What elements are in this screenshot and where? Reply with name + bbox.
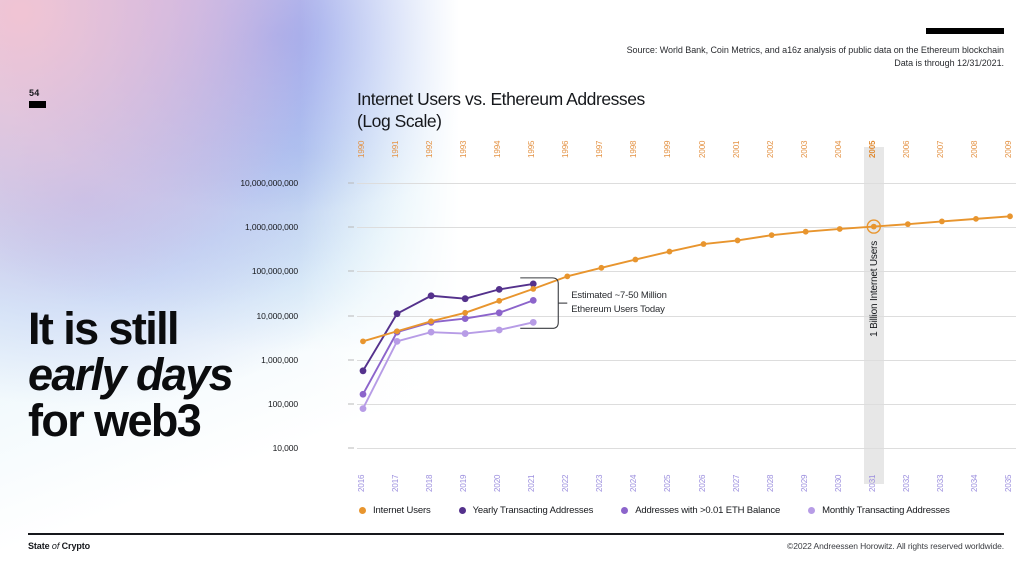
headline-line-2: early days (28, 352, 232, 398)
legend-color-dot-icon (621, 507, 628, 514)
legend-label: Addresses with >0.01 ETH Balance (635, 505, 780, 516)
x-axis-top-label-2002: 2002 (766, 141, 775, 158)
footer-brand-of: of (52, 541, 59, 551)
footer-brand-state: State (28, 541, 50, 551)
legend-label: Yearly Transacting Addresses (473, 505, 594, 516)
legend-color-dot-icon (808, 507, 815, 514)
x-axis-top-label-1994: 1994 (493, 141, 502, 158)
annotation-bracket-path (520, 278, 558, 328)
footer-brand-crypto: Crypto (62, 541, 90, 551)
headline-line-3: for web3 (28, 398, 232, 444)
annotation-text: Estimated ~7-50 Million Ethereum Users T… (571, 289, 667, 316)
y-axis-tick-label: 10,000,000,000 (240, 178, 298, 188)
y-axis-tick-label: 1,000,000 (261, 355, 298, 365)
x-axis-top-label-1999: 1999 (663, 141, 672, 158)
x-axis-top-label-2000: 2000 (698, 141, 707, 158)
x-axis-bottom-label-2021: 2021 (527, 475, 536, 492)
footer-rule (28, 533, 1004, 535)
x-axis-top-label-1997: 1997 (595, 141, 604, 158)
legend-label: Monthly Transacting Addresses (822, 505, 950, 516)
chart-title-main: Internet Users vs. Ethereum Addresses (357, 88, 645, 110)
y-axis-tick-mark (348, 271, 354, 272)
x-axis-bottom-label-2017: 2017 (391, 475, 400, 492)
legend-color-dot-icon (459, 507, 466, 514)
annotation-line-2: Ethereum Users Today (571, 303, 667, 316)
annotation-line-1: Estimated ~7-50 Million (571, 289, 667, 302)
x-axis-bottom-label-2033: 2033 (936, 475, 945, 492)
gridline (357, 448, 1016, 449)
x-axis-bottom-label-2025: 2025 (663, 475, 672, 492)
headline-line-1: It is still (28, 306, 232, 352)
x-axis-bottom-label-2035: 2035 (1004, 475, 1013, 492)
headline: It is still early days for web3 (28, 306, 232, 444)
x-axis-top-label-2003: 2003 (800, 141, 809, 158)
y-axis-tick-label: 10,000 (273, 443, 298, 453)
top-rule-decoration (926, 28, 1004, 34)
page-number: 54 (29, 88, 46, 98)
x-axis-bottom-label-2022: 2022 (561, 475, 570, 492)
x-axis-bottom-label-2030: 2030 (834, 475, 843, 492)
x-axis-bottom-label-2029: 2029 (800, 475, 809, 492)
x-axis-top-label-1991: 1991 (391, 141, 400, 158)
y-axis-tick-label: 1,000,000,000 (245, 222, 298, 232)
legend-label: Internet Users (373, 505, 431, 516)
plot-region: 10,000,000,0001,000,000,000100,000,00010… (357, 183, 1016, 448)
x-axis-top-label-2004: 2004 (834, 141, 843, 158)
x-axis-bottom-label-2027: 2027 (732, 475, 741, 492)
y-axis-tick-mark (348, 403, 354, 404)
x-axis-bottom-label-2034: 2034 (970, 475, 979, 492)
legend-item-4[interactable]: Monthly Transacting Addresses (808, 505, 950, 516)
footer-brand: State of Crypto (28, 541, 90, 551)
y-axis-tick-label: 10,000,000 (256, 311, 298, 321)
x-axis-bottom-label-2020: 2020 (493, 475, 502, 492)
x-axis-bottom-label-2031: 2031 (868, 475, 877, 492)
y-axis-tick-label: 100,000 (268, 399, 298, 409)
footer-copyright: ©2022 Andreessen Horowitz. All rights re… (787, 541, 1004, 551)
chart-title: Internet Users vs. Ethereum Addresses (L… (357, 88, 645, 132)
chart-subtitle: (Log Scale) (357, 110, 645, 132)
x-axis-top-label-2008: 2008 (970, 141, 979, 158)
y-axis-tick-mark (348, 315, 354, 316)
y-axis-tick-mark (348, 227, 354, 228)
x-axis-bottom-label-2016: 2016 (357, 475, 366, 492)
x-axis-bottom-label-2019: 2019 (459, 475, 468, 492)
x-axis-top-label-1998: 1998 (629, 141, 638, 158)
annotation-bracket (357, 183, 1016, 448)
legend-item-3[interactable]: Addresses with >0.01 ETH Balance (621, 505, 780, 516)
x-axis-bottom-label-2028: 2028 (766, 475, 775, 492)
x-axis-top-label-1993: 1993 (459, 141, 468, 158)
x-axis-top-label-2009: 2009 (1004, 141, 1013, 158)
page-marker: 54 (29, 88, 46, 108)
source-note: Source: World Bank, Coin Metrics, and a1… (384, 44, 1004, 70)
legend-item-1[interactable]: Internet Users (359, 505, 431, 516)
chart-legend: Internet UsersYearly Transacting Address… (359, 505, 978, 516)
page-bar-decoration (29, 101, 46, 108)
y-axis-tick-mark (348, 183, 354, 184)
x-axis-top-label-2006: 2006 (902, 141, 911, 158)
x-axis-bottom-label-2023: 2023 (595, 475, 604, 492)
legend-item-2[interactable]: Yearly Transacting Addresses (459, 505, 594, 516)
x-axis-bottom-label-2024: 2024 (629, 475, 638, 492)
x-axis-top-label-1990: 1990 (357, 141, 366, 158)
source-line-2: Data is through 12/31/2021. (384, 57, 1004, 70)
y-axis-tick-mark (348, 448, 354, 449)
legend-color-dot-icon (359, 507, 366, 514)
x-axis-bottom-label-2026: 2026 (698, 475, 707, 492)
y-axis-tick-mark (348, 359, 354, 360)
x-axis-bottom-label-2032: 2032 (902, 475, 911, 492)
source-line-1: Source: World Bank, Coin Metrics, and a1… (384, 44, 1004, 57)
x-axis-top-label-1995: 1995 (527, 141, 536, 158)
x-axis-top-label-1996: 1996 (561, 141, 570, 158)
x-axis-top-label-2001: 2001 (732, 141, 741, 158)
x-axis-top-label-2005: 2005 (868, 141, 877, 158)
chart-area: 10,000,000,0001,000,000,000100,000,00010… (300, 183, 1016, 448)
y-axis-tick-label: 100,000,000 (252, 266, 298, 276)
x-axis-top-label-2007: 2007 (936, 141, 945, 158)
x-axis-bottom-label-2018: 2018 (425, 475, 434, 492)
x-axis-top-label-1992: 1992 (425, 141, 434, 158)
